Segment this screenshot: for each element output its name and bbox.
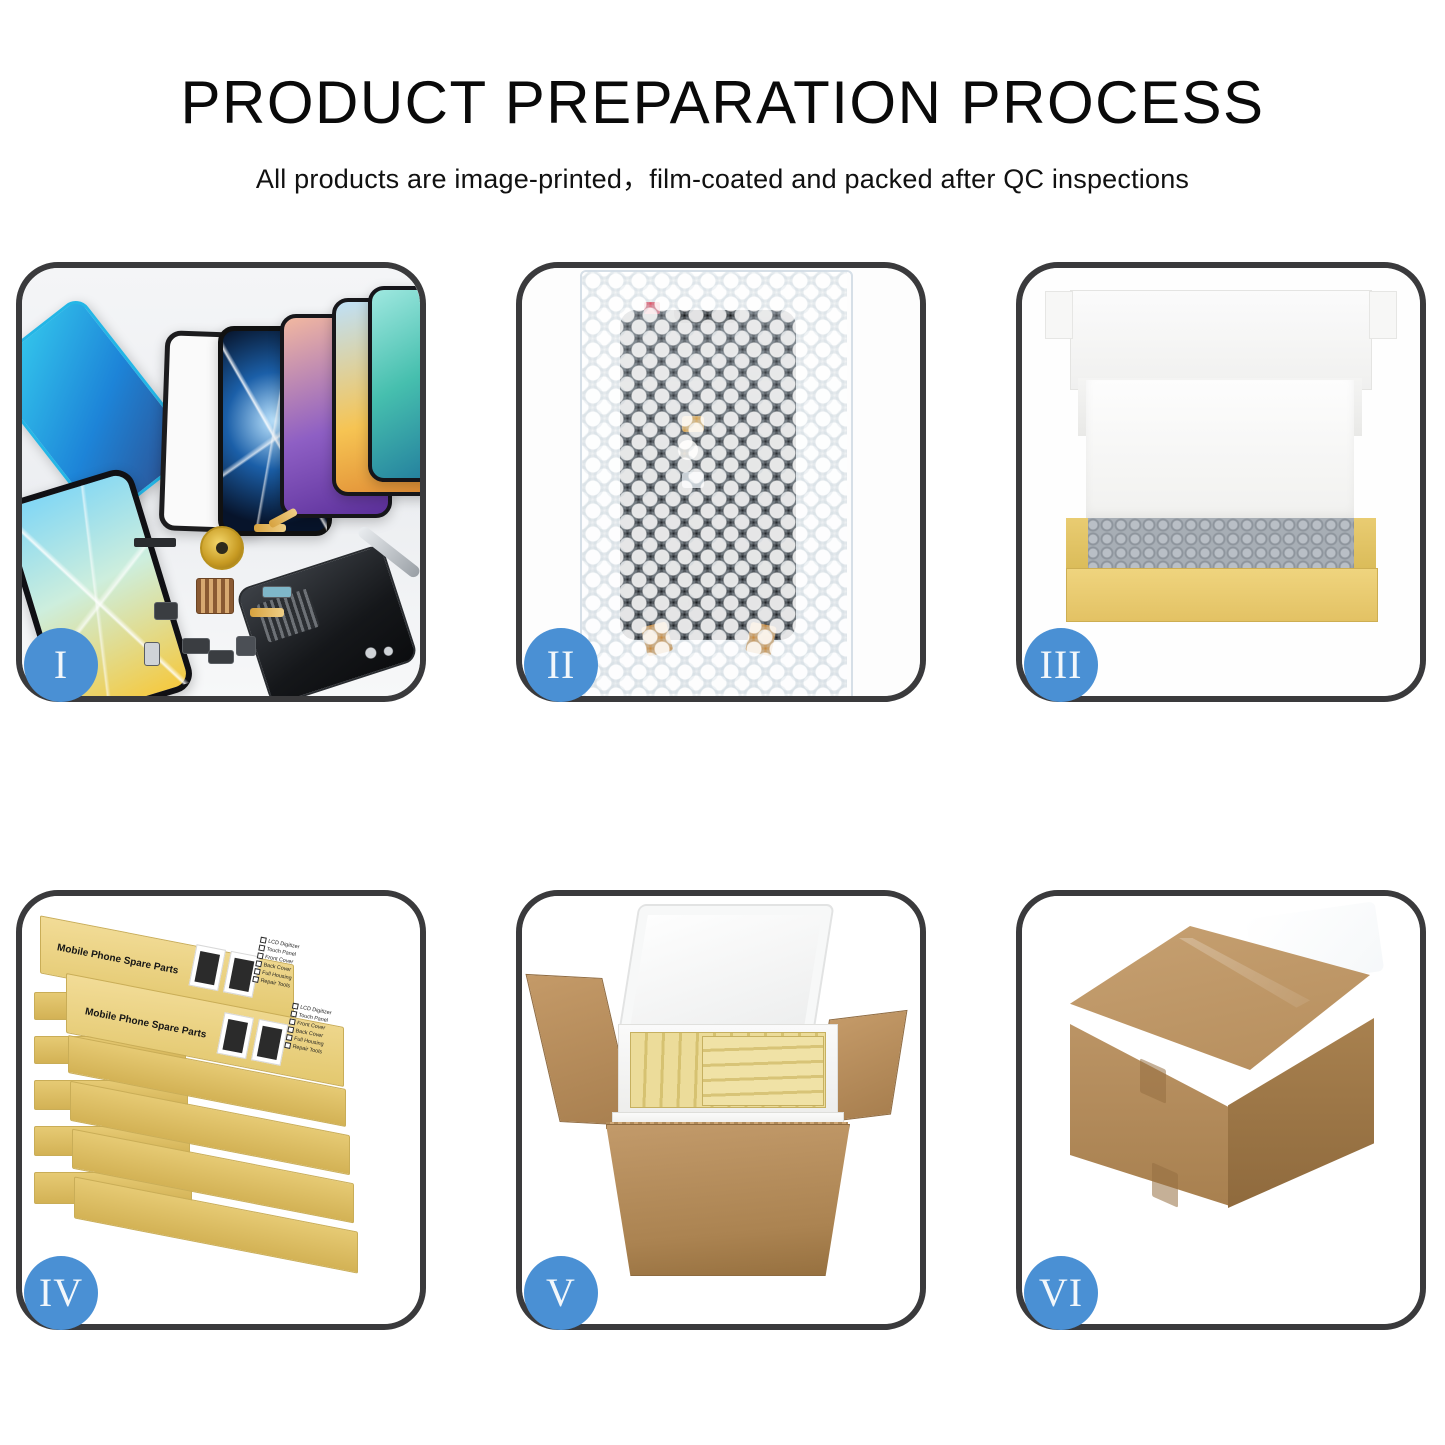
step-badge-5-label: V [546, 1273, 576, 1313]
process-row-two: Mobile Phone Spare Parts LCD Digitizer T… [0, 890, 1445, 1330]
sim-tray-part [144, 642, 160, 666]
step-badge-6-label: VI [1039, 1273, 1083, 1313]
box-thumb-screen [189, 944, 226, 991]
earpiece-mesh-part [134, 538, 176, 547]
camera-module-part [236, 636, 256, 656]
connector-part [262, 586, 292, 598]
step-4-image: Mobile Phone Spare Parts LCD Digitizer T… [22, 896, 420, 1324]
mailer-box-front-panel [1066, 568, 1378, 622]
phone-screen-teal [368, 286, 420, 482]
ic-chip-part [196, 578, 234, 614]
page-subtitle: All products are image-printed，film-coat… [0, 157, 1445, 196]
carton-body [606, 1124, 850, 1276]
step-badge-4-label: IV [39, 1273, 83, 1313]
step-badge-4: IV [24, 1256, 98, 1330]
small-component-part [182, 638, 210, 654]
step-1-image [22, 268, 420, 696]
foam-cooler-lid [617, 904, 834, 1038]
process-step-grid: I II III Mobile Phone Spare Parts [0, 262, 1445, 1330]
step-badge-2: II [524, 628, 598, 702]
white-foam-liner [1086, 380, 1354, 520]
taptic-coil-part [200, 526, 244, 570]
phone-back-housing [235, 543, 419, 696]
step-5-image [522, 896, 920, 1324]
page-title: PRODUCT PREPARATION PROCESS [0, 73, 1445, 133]
step-badge-6: VI [1024, 1256, 1098, 1330]
step-badge-3-label: III [1040, 645, 1083, 685]
step-badge-1: I [24, 628, 98, 702]
grey-bubble-wrap-fill [1086, 518, 1354, 574]
step-badge-1-label: I [54, 645, 68, 685]
small-component-part [154, 602, 178, 620]
step-badge-5: V [524, 1256, 598, 1330]
step-6-image [1022, 896, 1420, 1324]
flex-cable-part [250, 608, 284, 617]
step-2-image [522, 268, 920, 696]
process-row-one: I II III [0, 262, 1445, 702]
page-header: PRODUCT PREPARATION PROCESS All products… [0, 0, 1445, 196]
screws-part [362, 644, 406, 662]
bubble-bag-edge [580, 270, 853, 696]
step-badge-2-label: II [547, 645, 576, 685]
step-badge-3: III [1024, 628, 1098, 702]
mailer-box-lid [1070, 290, 1372, 390]
small-component-part [208, 650, 234, 664]
step-3-image [1022, 268, 1420, 696]
gold-boxes-stacked-inside [702, 1036, 824, 1106]
box-thumb-screen [217, 1012, 254, 1059]
